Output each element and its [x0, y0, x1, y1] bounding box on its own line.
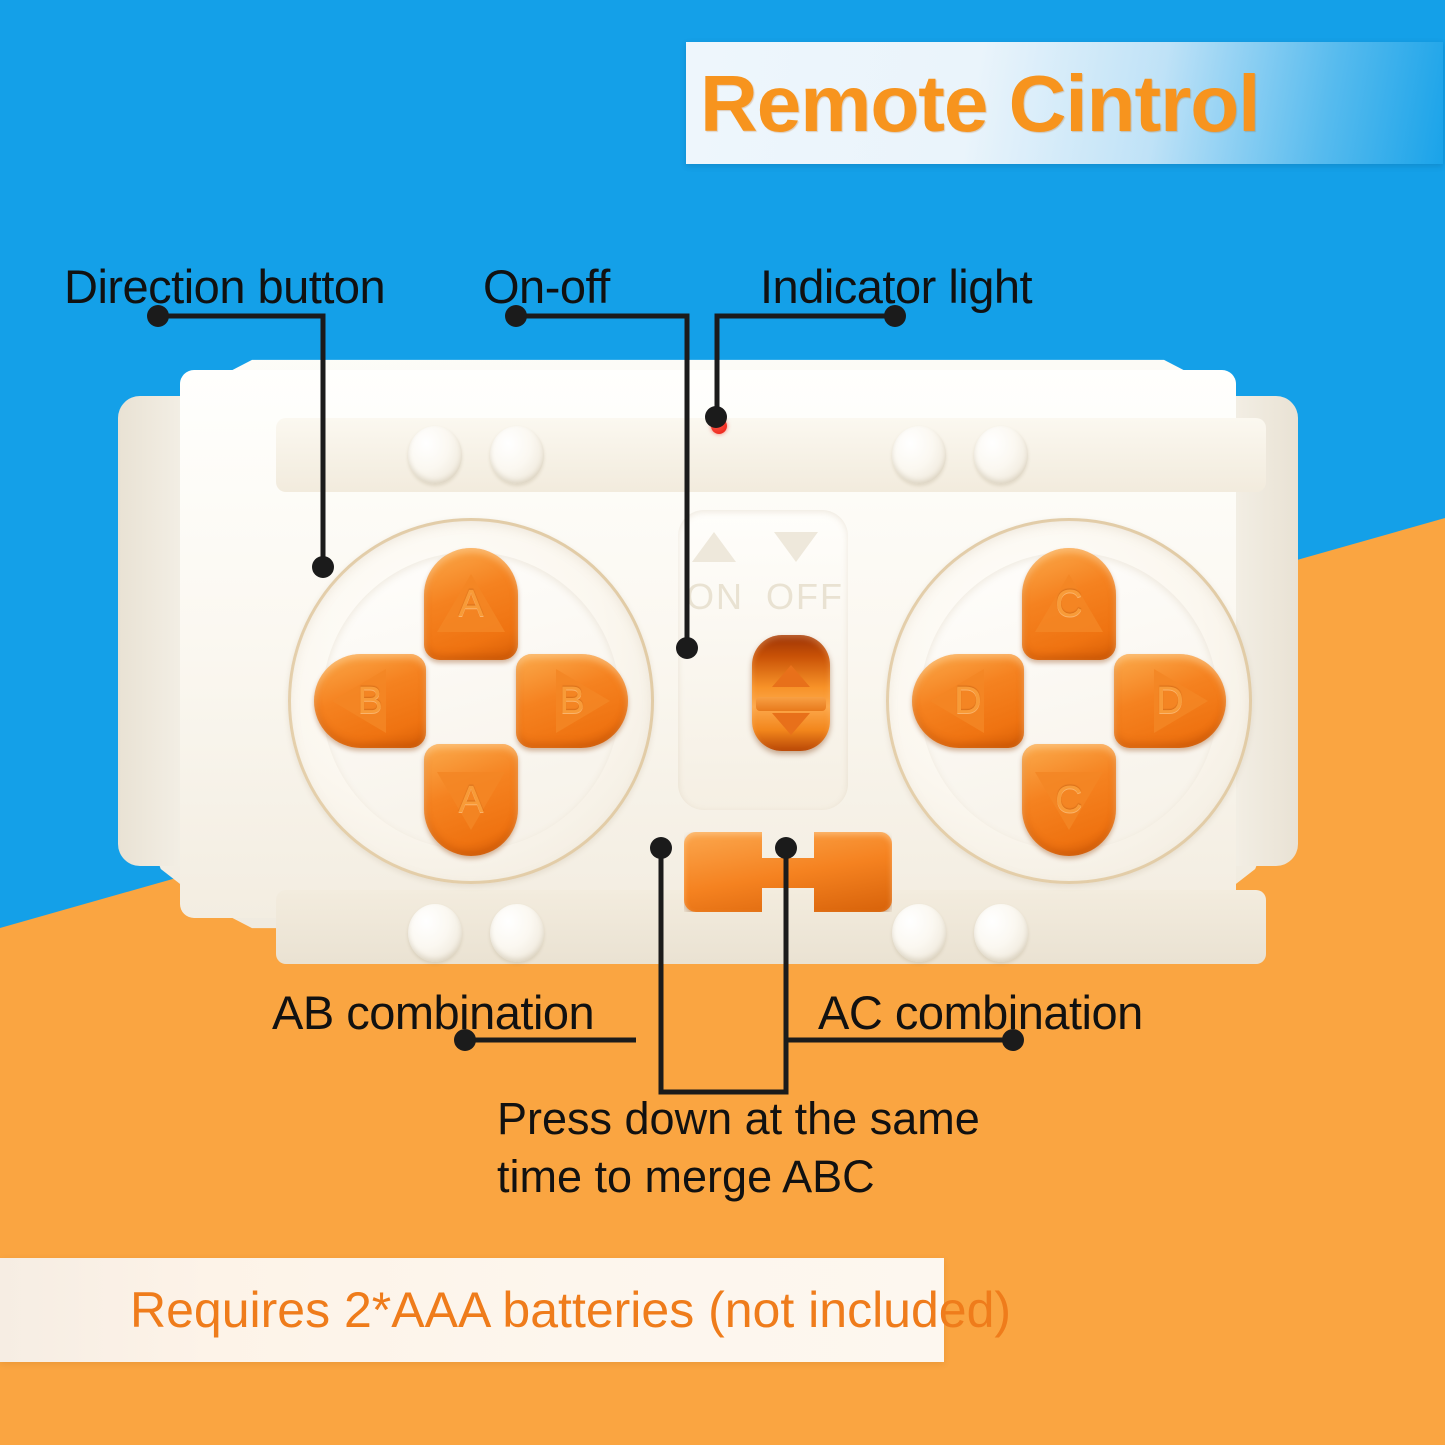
callout-ab-combination: AB combination [272, 985, 594, 1040]
remote-control-device: A B B A C [118, 330, 1298, 970]
dpad-right-right-label: D [1114, 654, 1226, 748]
stud-bottom-3 [892, 904, 946, 962]
page-title: Remote Cintrol [700, 52, 1440, 156]
power-switch-markings: ON OFF [678, 528, 848, 648]
on-arrow-icon [692, 532, 736, 562]
dpad-right-button-up[interactable]: C [1022, 548, 1116, 660]
dpad-left-button-left[interactable]: B [314, 654, 426, 748]
stud-top-2 [490, 426, 544, 484]
callout-ac-combination: AC combination [818, 985, 1143, 1040]
stud-bottom-2 [490, 904, 544, 962]
callout-indicator-light: Indicator light [760, 259, 1032, 314]
merge-note-line-1: Press down at the same [497, 1090, 980, 1148]
switch-grip-band [756, 697, 826, 711]
dpad-left-right-label: B [516, 654, 628, 748]
stud-top-1 [408, 426, 462, 484]
dpad-right-button-left[interactable]: D [912, 654, 1024, 748]
dpad-right-well: C D D C [886, 518, 1252, 884]
callout-direction-button: Direction button [64, 259, 385, 314]
stud-top-4 [974, 426, 1028, 484]
callout-merge-note: Press down at the same time to merge ABC [497, 1090, 980, 1206]
switch-down-arrow-icon [772, 713, 810, 735]
switch-up-arrow-icon [772, 665, 810, 687]
callout-on-off: On-off [483, 259, 610, 314]
dpad-left-button-right[interactable]: B [516, 654, 628, 748]
dpad-left-button-up[interactable]: A [424, 548, 518, 660]
stud-top-3 [892, 426, 946, 484]
dpad-right-button-down[interactable]: C [1022, 744, 1116, 856]
remote-face-plate: A B B A C [180, 370, 1236, 918]
merge-note-line-2: time to merge ABC [497, 1148, 980, 1206]
indicator-light-led [711, 418, 727, 434]
battery-note-text: Requires 2*AAA batteries (not included) [130, 1278, 1011, 1342]
power-off-label: OFF [766, 576, 844, 618]
stud-bottom-4 [974, 904, 1028, 962]
power-on-label: ON [686, 576, 744, 618]
dpad-left-well: A B B A [288, 518, 654, 884]
dpad-right-left-label: D [912, 654, 1024, 748]
dpad-left-up-label: A [424, 548, 518, 660]
stud-bottom-1 [408, 904, 462, 962]
dpad-left-button-down[interactable]: A [424, 744, 518, 856]
dpad-left-left-label: B [314, 654, 426, 748]
dpad-left-down-label: A [424, 744, 518, 856]
power-switch-slider[interactable] [752, 635, 830, 751]
infographic-canvas: Remote Cintrol A [0, 0, 1445, 1445]
dpad-right-button-right[interactable]: D [1114, 654, 1226, 748]
dpad-right-down-label: C [1022, 744, 1116, 856]
off-arrow-icon [774, 532, 818, 562]
dpad-right-up-label: C [1022, 548, 1116, 660]
